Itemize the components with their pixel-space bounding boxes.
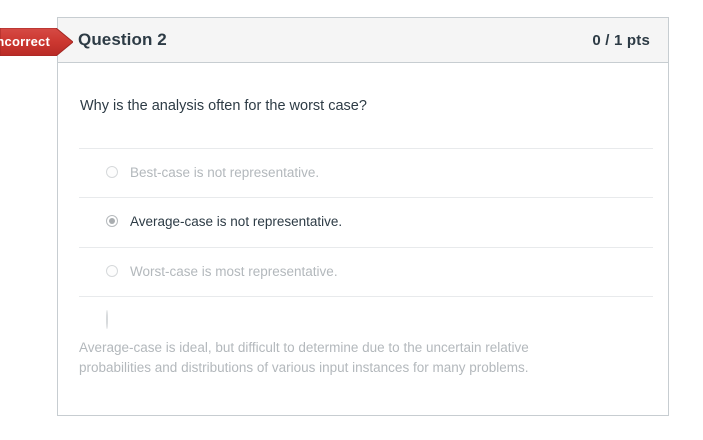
status-flag-incorrect: Incorrect (0, 28, 73, 56)
status-flag-label: Incorrect (0, 28, 52, 56)
answer-label: Average-case is not representative. (130, 212, 653, 232)
question-card: Question 2 0 / 1 pts Why is the analysis… (57, 17, 669, 416)
answer-option-3[interactable]: Worst-case is most representative. (79, 247, 653, 296)
radio-button-selected-icon[interactable] (106, 215, 118, 227)
answer-label: Best-case is not representative. (130, 163, 653, 183)
question-points-badge: 0 / 1 pts (592, 32, 650, 49)
answer-option-2[interactable]: Average-case is not representative. (79, 197, 653, 246)
question-header: Question 2 0 / 1 pts (58, 18, 668, 63)
question-body: Why is the analysis often for the worst … (58, 63, 668, 392)
answer-option-1[interactable]: Best-case is not representative. (79, 148, 653, 197)
answer-label: Worst-case is most representative. (130, 262, 653, 282)
answer-label: Average-case is ideal, but difficult to … (79, 338, 571, 379)
answer-row: Best-case is not representative. (79, 163, 653, 183)
answer-row: Average-case is not representative. (79, 212, 653, 232)
answer-row: Worst-case is most representative. (79, 262, 653, 282)
answer-option-4[interactable]: Average-case is ideal, but difficult to … (79, 296, 653, 393)
radio-button-icon[interactable] (106, 265, 118, 277)
radio-button-icon[interactable] (106, 310, 108, 329)
answer-list: Best-case is not representative. Average… (58, 148, 668, 392)
question-prompt-text: Why is the analysis often for the worst … (58, 63, 668, 117)
radio-button-icon[interactable] (106, 166, 118, 178)
answer-row: Average-case is ideal, but difficult to … (79, 311, 653, 379)
question-title: Question 2 (78, 30, 167, 50)
